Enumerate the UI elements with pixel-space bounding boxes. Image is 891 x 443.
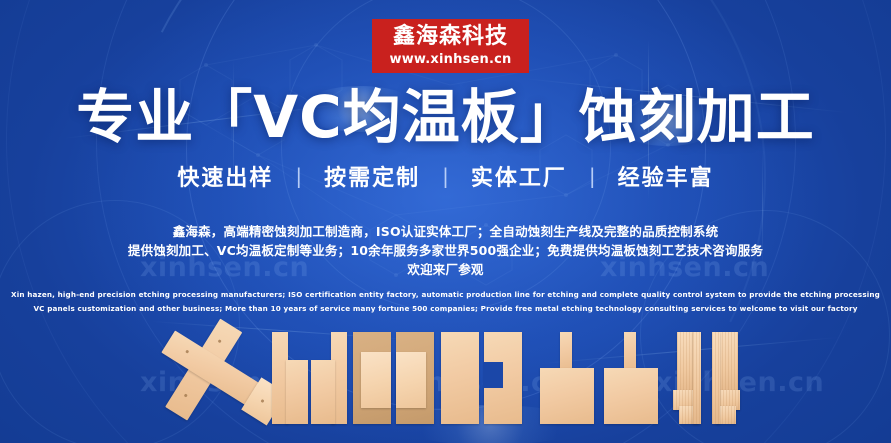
description-chinese: 鑫海森，高端精密蚀刻加工制造商，ISO认证实体工厂；全自动蚀刻生产线及完整的品质…	[0, 222, 891, 279]
product-showcase-row	[0, 328, 891, 443]
plate-stem	[560, 332, 572, 372]
plate-part	[311, 360, 335, 424]
plate-stem	[624, 332, 636, 372]
product-t-stem-plate-2	[604, 332, 658, 424]
plate-head	[540, 368, 594, 424]
description-en-line-2: VC panels customization and other busine…	[0, 302, 891, 316]
plate-notch	[483, 362, 503, 388]
feature-item-1: 快速出样	[155, 160, 295, 192]
feature-separator: |	[442, 164, 449, 188]
feature-separator: |	[589, 164, 596, 188]
product-c-shaped-plate	[484, 332, 522, 424]
company-website: www.xinhsen.cn	[390, 53, 512, 66]
feature-item-4: 经验丰富	[596, 160, 736, 192]
product-slotted-rectangular-plate	[441, 332, 479, 424]
plate-part	[286, 360, 308, 424]
feature-item-3: 实体工厂	[449, 160, 589, 192]
company-name-cn: 鑫海森科技	[393, 26, 508, 48]
product-textured-long-strip-1	[673, 332, 707, 424]
product-notched-rectangular-plate-2	[311, 332, 347, 424]
product-stepped-plate-dark-1	[353, 332, 391, 424]
description-cn-line-2: 提供蚀刻加工、VC均温板定制等业务；10余年服务多家世界500强企业；免费提供均…	[0, 241, 891, 260]
page-title: 专业「VC均温板」蚀刻加工	[0, 88, 891, 146]
description-en-line-1: Xin hazen, high-end precision etching pr…	[0, 288, 891, 302]
plate-rail	[712, 332, 720, 424]
plate-part	[361, 352, 391, 408]
description-cn-line-1: 鑫海森，高端精密蚀刻加工制造商，ISO认证实体工厂；全自动蚀刻生产线及完整的品质…	[0, 222, 891, 241]
feature-strip: 快速出样 | 按需定制 | 实体工厂 | 经验丰富	[0, 160, 891, 192]
product-textured-long-strip-2	[708, 332, 742, 424]
product-t-stem-plate-1	[540, 332, 594, 424]
description-english: Xin hazen, high-end precision etching pr…	[0, 288, 891, 316]
plate-rail	[693, 332, 701, 424]
product-notched-rectangular-plate-1	[272, 332, 308, 424]
plate-head	[604, 368, 658, 424]
description-cn-line-3: 欢迎来厂参观	[0, 260, 891, 279]
plate-part	[396, 352, 426, 408]
plate-part	[441, 332, 479, 424]
promotional-banner: xinhsen.cn xinhsen.cn xinhsen.cn xinhsen…	[0, 0, 891, 443]
product-stepped-plate-dark-2	[396, 332, 434, 424]
feature-separator: |	[295, 164, 302, 188]
company-logo-badge[interactable]: 鑫海森科技 www.xinhsen.cn	[372, 19, 529, 73]
feature-item-2: 按需定制	[302, 160, 442, 192]
